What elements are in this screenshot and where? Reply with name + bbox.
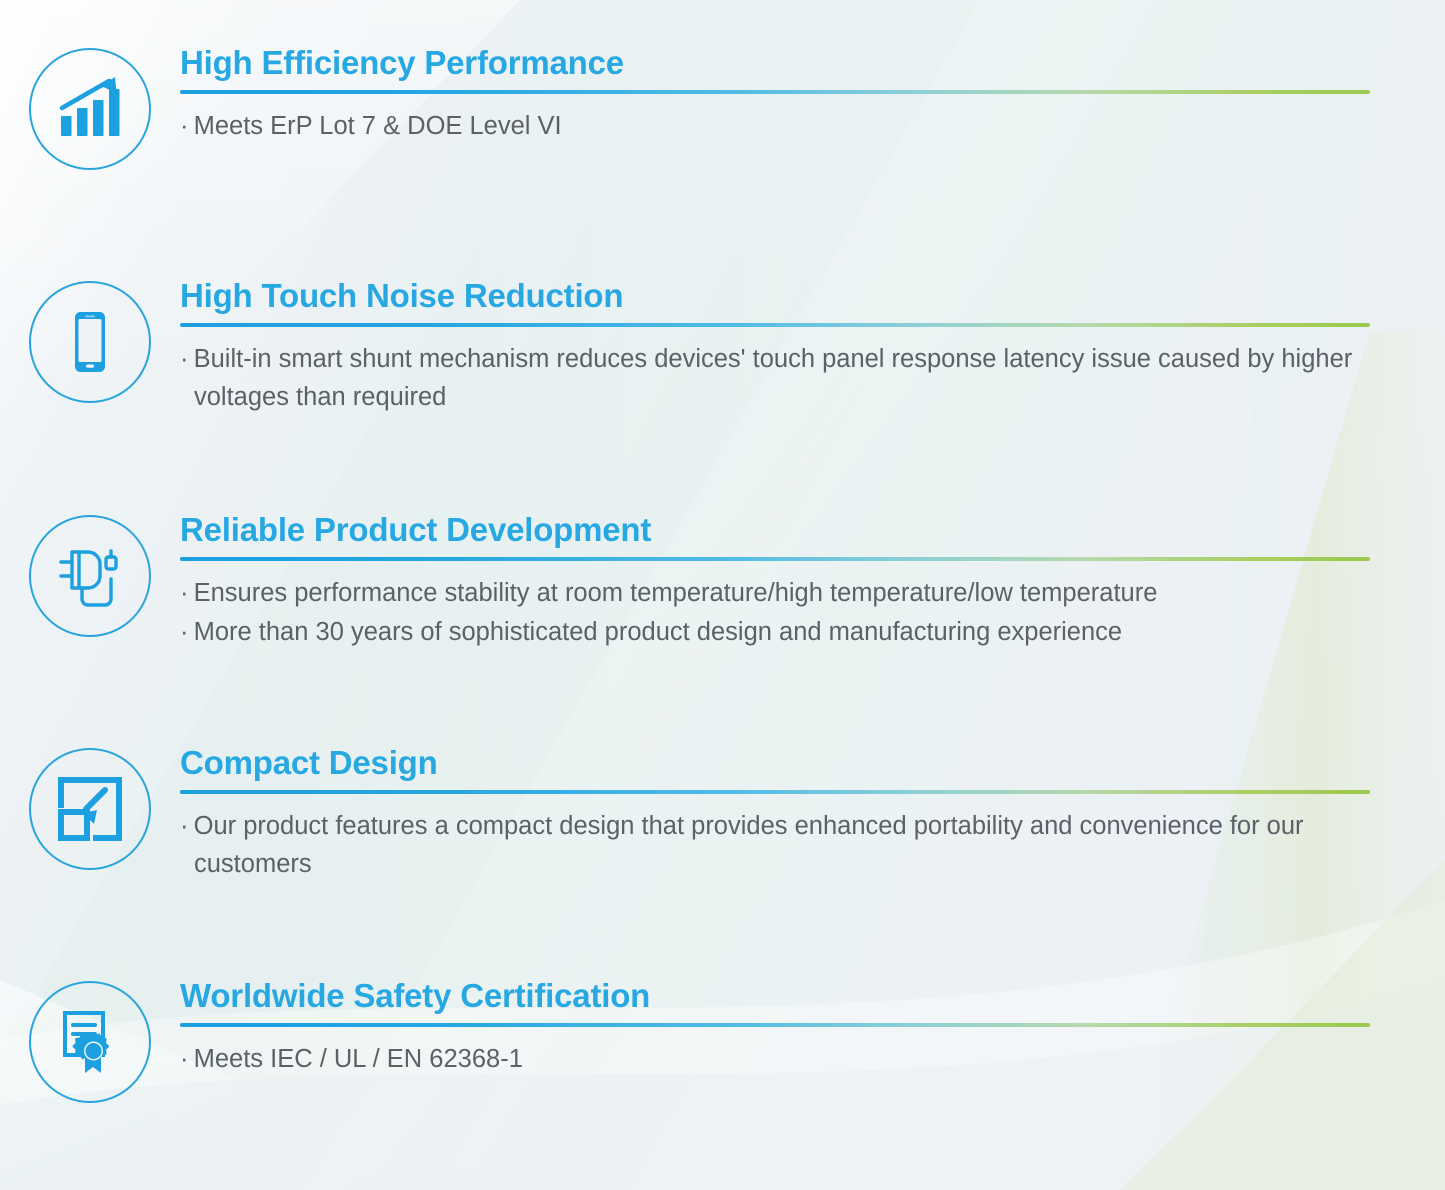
feature-highlights-page: High Efficiency Performance Meets ErP Lo… bbox=[0, 0, 1445, 1190]
bullet-item: Meets IEC / UL / EN 62368-1 bbox=[180, 1041, 1370, 1079]
feature-bullets: Ensures performance stability at room te… bbox=[180, 575, 1370, 651]
feature-divider bbox=[180, 790, 1370, 794]
feature-body: Compact Design Our product features a co… bbox=[180, 744, 1445, 884]
feature-bullets: Our product features a compact design th… bbox=[180, 808, 1370, 883]
feature-divider bbox=[180, 323, 1370, 327]
feature-title: Reliable Product Development bbox=[180, 511, 1370, 549]
bullet-item: Built-in smart shunt mechanism reduces d… bbox=[180, 341, 1370, 416]
bar-chart-growth-icon bbox=[29, 48, 151, 170]
feature-body: Worldwide Safety Certification Meets IEC… bbox=[180, 977, 1445, 1080]
feature-icon-wrap bbox=[0, 44, 180, 170]
feature-item: Worldwide Safety Certification Meets IEC… bbox=[0, 977, 1445, 1103]
bullet-item: Our product features a compact design th… bbox=[180, 808, 1370, 883]
bullet-item: More than 30 years of sophisticated prod… bbox=[180, 614, 1370, 652]
feature-title: High Efficiency Performance bbox=[180, 44, 1370, 82]
feature-icon-wrap bbox=[0, 511, 180, 637]
feature-item: Reliable Product Development Ensures per… bbox=[0, 511, 1445, 652]
feature-divider bbox=[180, 557, 1370, 561]
smartphone-icon bbox=[29, 281, 151, 403]
feature-title: Compact Design bbox=[180, 744, 1370, 782]
feature-item: High Touch Noise Reduction Built-in smar… bbox=[0, 277, 1445, 417]
bullet-item: Meets ErP Lot 7 & DOE Level VI bbox=[180, 108, 1370, 146]
feature-body: High Efficiency Performance Meets ErP Lo… bbox=[180, 44, 1445, 147]
feature-bullets: Meets IEC / UL / EN 62368-1 bbox=[180, 1041, 1370, 1079]
feature-icon-wrap bbox=[0, 977, 180, 1103]
feature-divider bbox=[180, 90, 1370, 94]
feature-body: High Touch Noise Reduction Built-in smar… bbox=[180, 277, 1445, 417]
feature-item: Compact Design Our product features a co… bbox=[0, 744, 1445, 884]
feature-body: Reliable Product Development Ensures per… bbox=[180, 511, 1445, 652]
feature-icon-wrap bbox=[0, 277, 180, 403]
feature-icon-wrap bbox=[0, 744, 180, 870]
feature-divider bbox=[180, 1023, 1370, 1027]
compact-resize-icon bbox=[29, 748, 151, 870]
feature-title: High Touch Noise Reduction bbox=[180, 277, 1370, 315]
feature-item: High Efficiency Performance Meets ErP Lo… bbox=[0, 44, 1445, 170]
feature-title: Worldwide Safety Certification bbox=[180, 977, 1370, 1015]
certificate-award-icon bbox=[29, 981, 151, 1103]
features-list: High Efficiency Performance Meets ErP Lo… bbox=[0, 0, 1445, 1190]
feature-bullets: Built-in smart shunt mechanism reduces d… bbox=[180, 341, 1370, 416]
feature-bullets: Meets ErP Lot 7 & DOE Level VI bbox=[180, 108, 1370, 146]
bullet-item: Ensures performance stability at room te… bbox=[180, 575, 1370, 613]
power-adapter-icon bbox=[29, 515, 151, 637]
